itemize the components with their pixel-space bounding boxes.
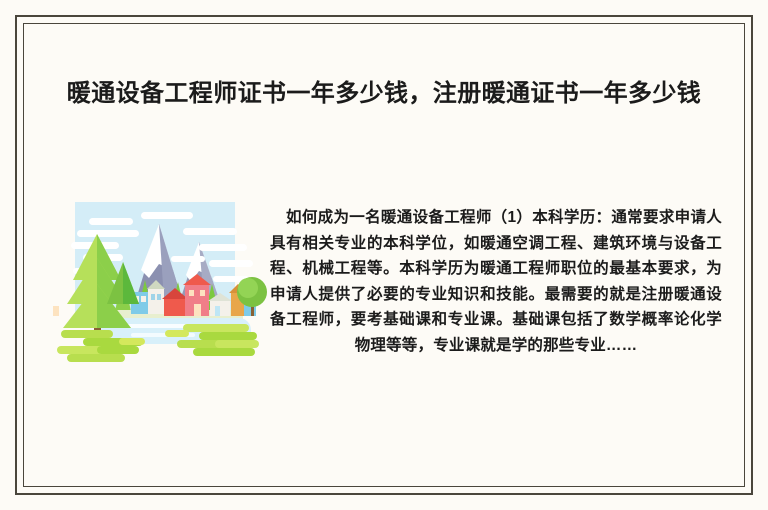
cloud-6 [199, 244, 247, 251]
article-content: 如何成为一名暖通设备工程师（1）本科学历：通常要求申请人具有相关专业的本科学位，… [23, 180, 745, 410]
grass-10 [215, 340, 259, 348]
house-red [164, 298, 186, 316]
grass-6 [119, 338, 145, 345]
landscape-illustration [53, 188, 268, 378]
landscape-illustration-graphic [53, 188, 268, 378]
house-white-window [151, 294, 155, 300]
article-page: 暖通设备工程师证书一年多少钱，注册暖通证书一年多少钱 [0, 0, 768, 510]
house-pink-window-2 [200, 290, 205, 296]
grass-8 [199, 332, 257, 340]
cloud-3 [77, 230, 139, 237]
cloud-1 [89, 218, 133, 225]
round-tree-crown-light [238, 278, 258, 298]
grass-12 [165, 330, 189, 337]
house-blue-window-2 [141, 296, 146, 302]
grass-7 [183, 324, 249, 332]
house-white [148, 288, 164, 314]
cloud-8 [171, 256, 205, 262]
cloud-9 [209, 260, 253, 267]
house-red-door [53, 306, 59, 316]
house-white-window-2 [157, 294, 161, 300]
article-body: 如何成为一名暖通设备工程师（1）本科学历：通常要求申请人具有相关专业的本科学位，… [270, 205, 722, 358]
grass-4 [97, 346, 139, 354]
grass-11 [193, 348, 255, 356]
cloud-2 [141, 212, 193, 219]
grass-3 [57, 346, 103, 354]
house-small-white-door [215, 306, 220, 316]
house-pink-window [189, 290, 194, 296]
house-pink-door [194, 304, 201, 316]
grass-1 [61, 330, 113, 338]
grass-5 [67, 354, 125, 362]
cloud-4 [183, 228, 237, 235]
page-title: 暖通设备工程师证书一年多少钱，注册暖通证书一年多少钱 [52, 76, 716, 112]
